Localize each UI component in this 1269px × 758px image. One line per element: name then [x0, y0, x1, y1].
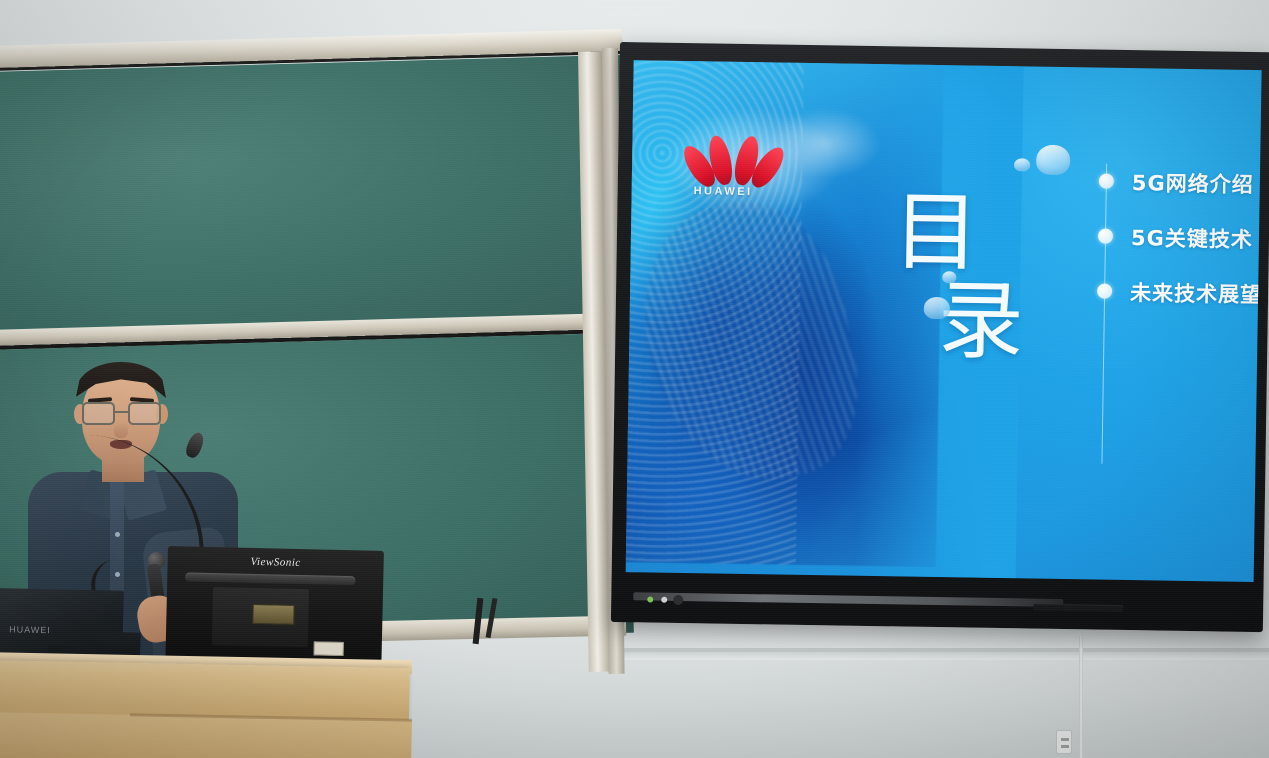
huawei-wordmark: HUAWEI — [694, 185, 804, 199]
bubble-decoration — [1014, 158, 1030, 171]
slide-title-char-1: 目 — [892, 182, 982, 283]
monitor-vent — [185, 572, 355, 585]
power-led-icon — [647, 596, 653, 602]
glasses-bridge — [115, 411, 129, 413]
wall-seam-lower — [620, 652, 1269, 660]
secondary-monitor-brand: HUAWEI — [9, 624, 51, 635]
agenda-item-label: 5G关键技术 — [1131, 222, 1253, 254]
glasses-lens-left — [82, 402, 115, 425]
agenda-item-2[interactable]: 5G关键技术 — [1093, 208, 1262, 266]
classroom-scene: HUAWEI 目 录 5G网络介绍 5G关键技术 — [0, 0, 1269, 758]
agenda-item-label: 5G网络介绍 — [1132, 167, 1254, 199]
glasses-lens-right — [128, 402, 161, 425]
display-screen: HUAWEI 目 录 5G网络介绍 5G关键技术 — [626, 60, 1262, 582]
agenda-item-1[interactable]: 5G网络介绍 — [1093, 153, 1261, 211]
agenda-item-label: 未来技术展望 — [1130, 277, 1262, 309]
wall-panel-divider — [1079, 636, 1083, 758]
huawei-logo: HUAWEI — [689, 133, 776, 212]
slide-title: 目 录 — [891, 192, 1028, 363]
monitor-spec-sticker — [314, 641, 344, 656]
agenda-bullet-icon — [1099, 174, 1114, 189]
slide-title-char-2: 录 — [937, 281, 1026, 364]
agenda-list: 5G网络介绍 5G关键技术 未来技术展望 — [1092, 153, 1262, 321]
chalkboard-upper-panel — [0, 55, 629, 334]
agenda-item-3[interactable]: 未来技术展望 — [1092, 263, 1262, 321]
speaker-grille — [1033, 604, 1123, 612]
bubble-decoration — [924, 297, 950, 319]
wall-mounted-led-display[interactable]: HUAWEI 目 录 5G网络介绍 5G关键技术 — [611, 42, 1269, 632]
monitor-vesa-plate — [252, 604, 294, 625]
nose — [114, 422, 128, 438]
bubble-decoration — [942, 271, 956, 283]
agenda-bullet-icon — [1098, 229, 1113, 244]
power-outlet — [1056, 730, 1072, 754]
status-led-icon — [661, 597, 667, 603]
viewsonic-brand-label: ViewSonic — [168, 554, 384, 571]
gooseneck-mic-capsule — [184, 430, 207, 459]
agenda-bullet-icon — [1097, 284, 1112, 299]
bubble-decoration — [1036, 145, 1070, 176]
